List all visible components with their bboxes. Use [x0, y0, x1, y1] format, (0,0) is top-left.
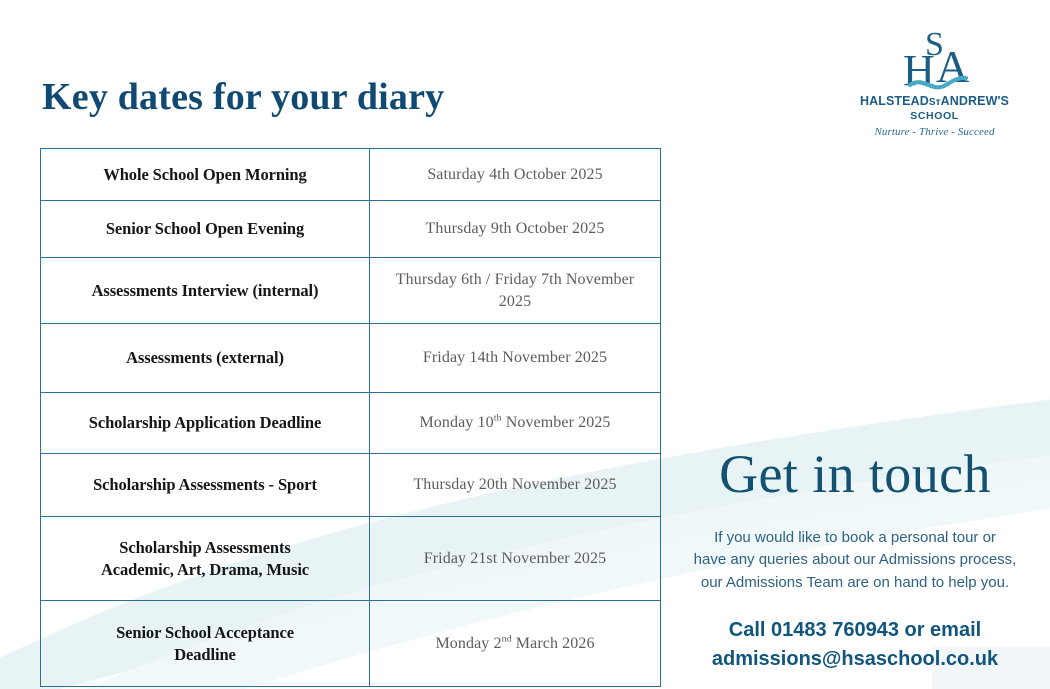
event-cell: Assessments (external) [41, 324, 370, 393]
event-line-1: Senior School Acceptance [116, 623, 294, 642]
event-cell: Scholarship Assessments - Sport [41, 454, 370, 517]
page-title: Key dates for your diary [42, 77, 444, 119]
date-cell: Friday 14th November 2025 [370, 324, 661, 393]
date-cell: Monday 10th November 2025 [370, 393, 661, 454]
event-cell: Senior School AcceptanceDeadline [41, 601, 370, 687]
logo-school-word: SCHOOL [852, 109, 1017, 125]
date-text-pre: Monday 10 [419, 414, 493, 431]
hsa-monogram-icon: H S A [852, 28, 1017, 94]
date-cell: Thursday 9th October 2025 [370, 201, 661, 258]
contact-body-line-3: our Admissions Team are on hand to help … [660, 572, 1050, 595]
table-row: Senior School AcceptanceDeadline Monday … [41, 601, 661, 687]
date-ordinal-suffix: th [494, 413, 502, 424]
table-row: Assessments Interview (internal) Thursda… [41, 258, 661, 324]
event-cell: Senior School Open Evening [41, 201, 370, 258]
logo-name-andrews: ANDREW'S [941, 94, 1009, 108]
contact-body-line-1: If you would like to book a personal tou… [660, 527, 1050, 550]
date-text-pre: Monday 2 [435, 635, 501, 652]
event-line-2: Deadline [174, 645, 236, 664]
logo-name-halstead: HALSTEAD [860, 94, 929, 108]
date-cell: Thursday 20th November 2025 [370, 454, 661, 517]
key-dates-table: Whole School Open Morning Saturday 4th O… [40, 148, 661, 687]
contact-email-line[interactable]: admissions@hsaschool.co.uk [660, 645, 1050, 674]
contact-body: If you would like to book a personal tou… [660, 527, 1050, 595]
table-row: Scholarship Application Deadline Monday … [41, 393, 661, 454]
table-row: Assessments (external) Friday 14th Novem… [41, 324, 661, 393]
date-cell: Saturday 4th October 2025 [370, 149, 661, 201]
poster-canvas: Key dates for your diary H S A HALSTEADS… [0, 0, 1050, 689]
table-row: Whole School Open Morning Saturday 4th O… [41, 149, 661, 201]
date-ordinal-suffix: nd [502, 634, 512, 645]
table-row: Scholarship AssessmentsAcademic, Art, Dr… [41, 517, 661, 601]
event-cell: Whole School Open Morning [41, 149, 370, 201]
event-cell: Scholarship Application Deadline [41, 393, 370, 454]
school-logo: H S A HALSTEADSᴛANDREW'S SCHOOL Nurture … [852, 28, 1017, 141]
contact-section: Get in touch If you would like to book a… [660, 446, 1050, 674]
contact-phone-line[interactable]: Call 01483 760943 or email [660, 616, 1050, 645]
svg-text:A: A [936, 41, 969, 92]
event-cell: Assessments Interview (internal) [41, 258, 370, 324]
date-cell: Monday 2nd March 2026 [370, 601, 661, 687]
logo-name-st: Sᴛ [929, 97, 941, 108]
logo-tagline: Nurture - Thrive - Succeed [852, 124, 1017, 141]
logo-school-name: HALSTEADSᴛANDREW'S [852, 94, 1017, 109]
contact-heading: Get in touch [660, 446, 1050, 503]
table-row: Senior School Open Evening Thursday 9th … [41, 201, 661, 258]
date-cell: Friday 21st November 2025 [370, 517, 661, 601]
table-row: Scholarship Assessments - Sport Thursday… [41, 454, 661, 517]
date-text-post: March 2026 [512, 635, 595, 652]
event-line-2: Academic, Art, Drama, Music [101, 560, 309, 579]
date-text-post: November 2025 [502, 414, 611, 431]
event-cell: Scholarship AssessmentsAcademic, Art, Dr… [41, 517, 370, 601]
contact-cta: Call 01483 760943 or email admissions@hs… [660, 616, 1050, 674]
date-cell: Thursday 6th / Friday 7th November 2025 [370, 258, 661, 324]
contact-body-line-2: have any queries about our Admissions pr… [660, 549, 1050, 572]
event-line-1: Scholarship Assessments [119, 538, 290, 557]
